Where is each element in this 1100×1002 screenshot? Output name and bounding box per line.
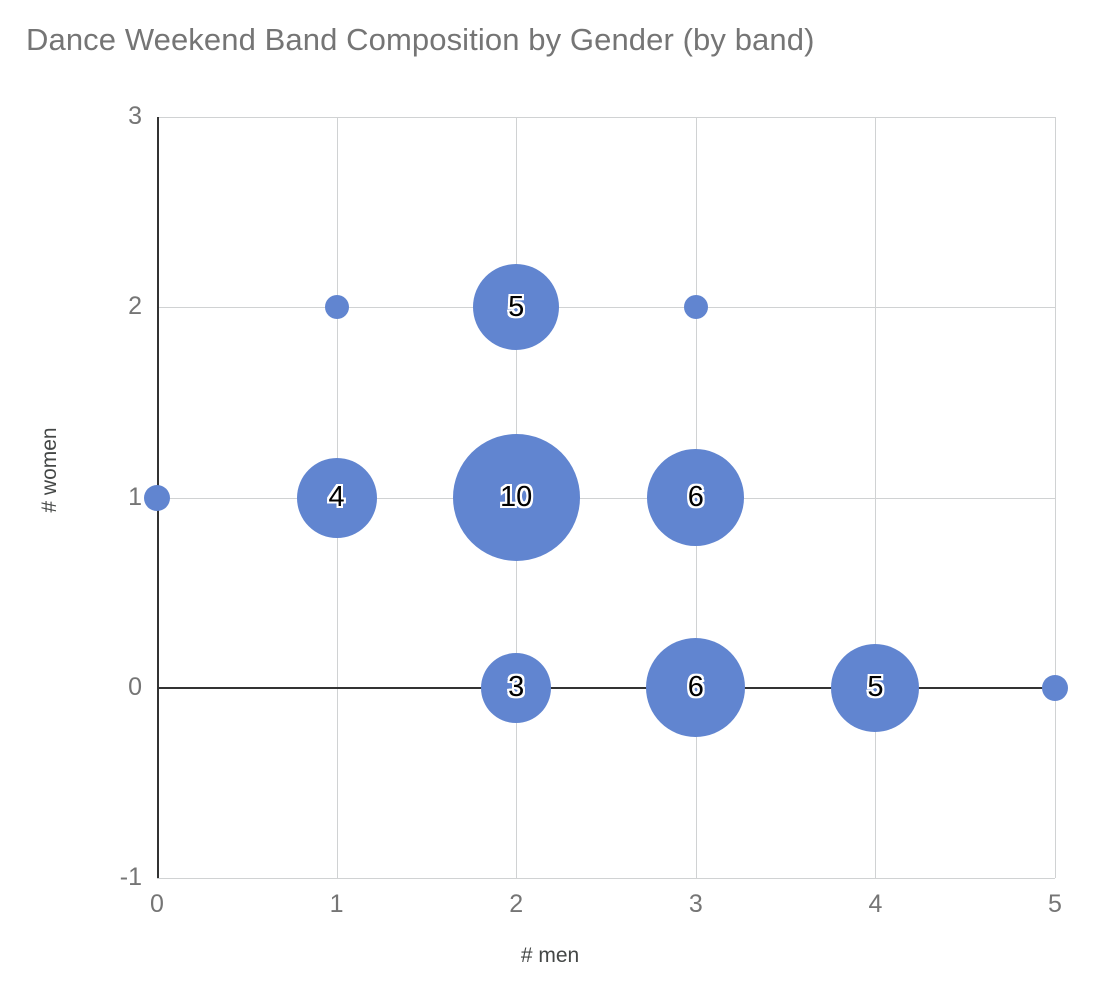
bubble-value-label: 5 (867, 673, 883, 702)
x-axis-tick-label: 3 (666, 890, 726, 919)
bubble-point[interactable]: 5 (831, 644, 919, 732)
y-axis-tick-label: 3 (82, 102, 142, 131)
bubble-value-label: 5 (508, 293, 524, 322)
bubble-point[interactable] (1042, 675, 1068, 701)
y-axis-tick-label: 2 (82, 292, 142, 321)
x-axis-line (157, 687, 1055, 689)
x-axis-tick-label: 2 (486, 890, 546, 919)
gridline-horizontal (157, 117, 1055, 118)
y-axis-title: # women (38, 410, 62, 530)
y-axis-tick-label: -1 (82, 863, 142, 892)
bubble-point[interactable] (684, 295, 708, 319)
gridline-vertical (1055, 117, 1056, 878)
bubble-point[interactable]: 4 (297, 458, 377, 538)
bubble-point[interactable]: 10 (453, 434, 580, 561)
bubble-point[interactable]: 5 (473, 264, 559, 350)
gridline-horizontal (157, 498, 1055, 499)
bubble-point[interactable] (144, 485, 170, 511)
bubble-chart: Dance Weekend Band Composition by Gender… (0, 0, 1100, 1002)
bubble-point[interactable]: 6 (646, 638, 745, 737)
bubble-point[interactable] (325, 295, 349, 319)
bubble-value-label: 3 (508, 673, 524, 702)
x-axis-tick-label: 4 (845, 890, 905, 919)
x-axis-title: # men (0, 944, 1100, 968)
bubble-value-label: 6 (688, 673, 704, 702)
bubble-value-label: 10 (500, 483, 532, 512)
y-axis-tick-label: 1 (82, 483, 142, 512)
bubble-point[interactable]: 3 (481, 653, 551, 723)
x-axis-tick-label: 5 (1025, 890, 1085, 919)
x-axis-tick-label: 1 (307, 890, 367, 919)
y-axis-tick-label: 0 (82, 673, 142, 702)
plot-area[interactable] (157, 117, 1055, 878)
bubble-point[interactable]: 6 (647, 449, 744, 546)
bubble-value-label: 6 (688, 483, 704, 512)
gridline-horizontal (157, 307, 1055, 308)
bubble-value-label: 4 (329, 483, 345, 512)
x-axis-tick-label: 0 (127, 890, 187, 919)
gridline-horizontal (157, 878, 1055, 879)
chart-title: Dance Weekend Band Composition by Gender… (26, 22, 815, 58)
